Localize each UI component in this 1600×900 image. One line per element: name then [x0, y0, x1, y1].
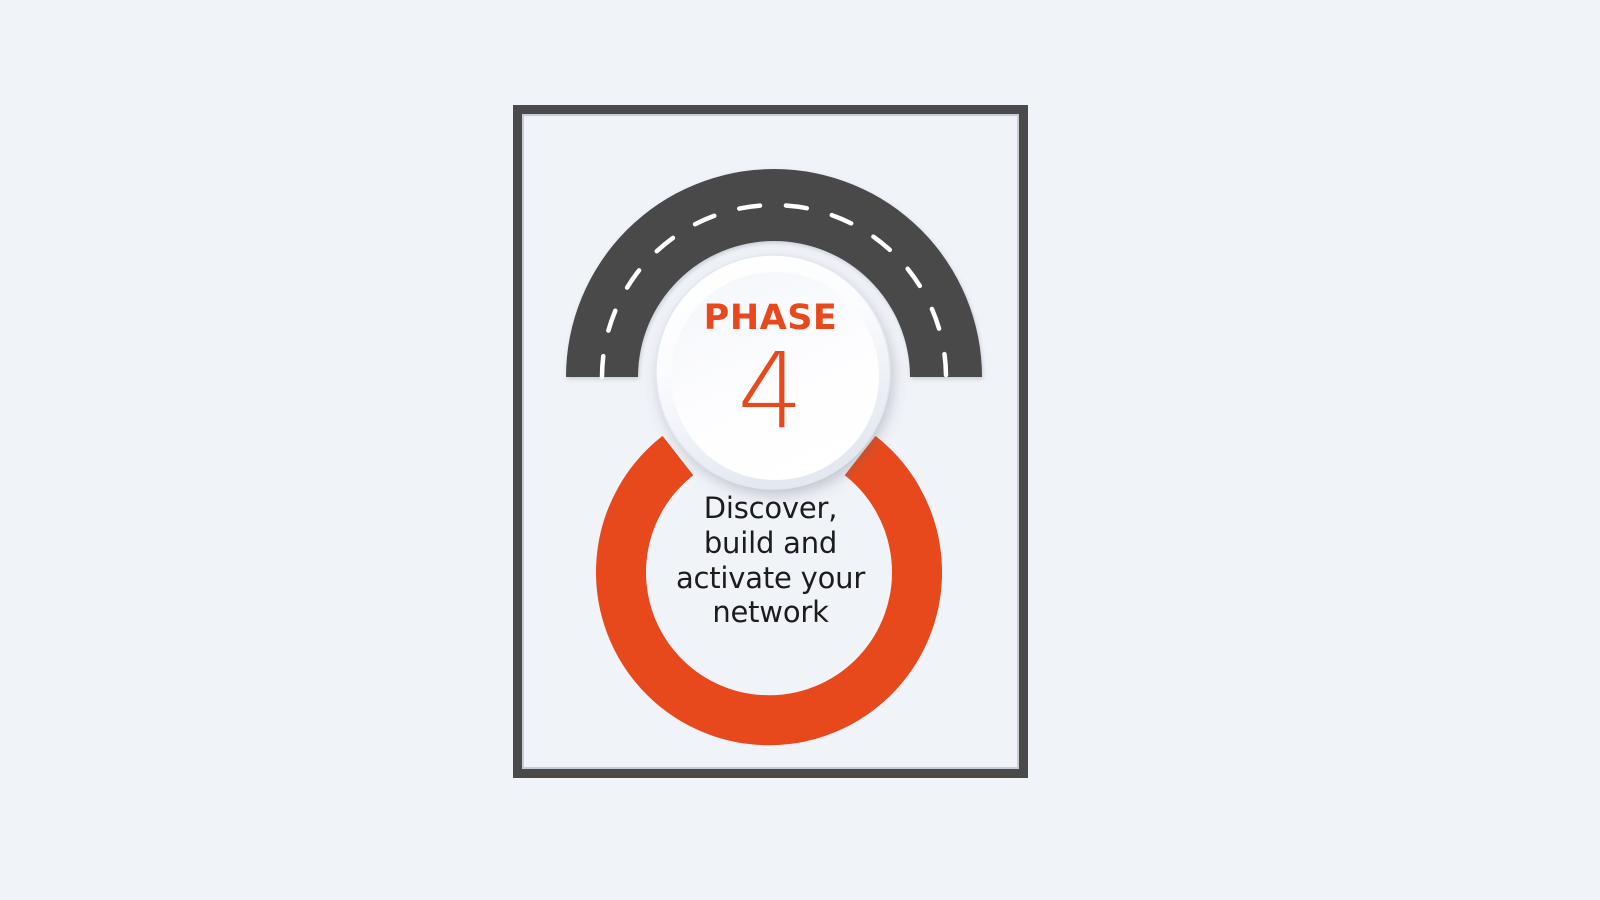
phase-badge-circle-group	[656, 255, 890, 489]
phase-diagram: PHASE 4 Discover, build and activate you…	[513, 105, 1028, 778]
phase-badge-circle-inner	[671, 272, 879, 480]
orange-progress-ring-group	[621, 456, 917, 721]
diagram-graphics	[513, 105, 1028, 778]
orange-progress-ring	[621, 456, 917, 721]
slide-canvas: PHASE 4 Discover, build and activate you…	[0, 0, 1600, 900]
